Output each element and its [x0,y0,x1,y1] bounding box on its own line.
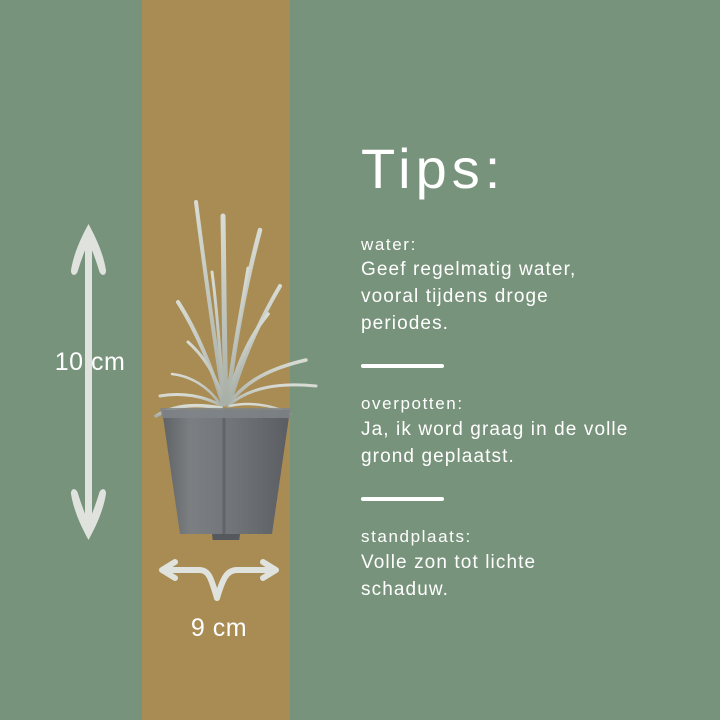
grass-foliage [156,202,316,416]
plant-product-image [120,190,340,540]
tip-item-water: water: Geef regelmatig water, vooral tij… [361,233,691,339]
width-measure-label: 9 cm [154,616,284,641]
section-divider-2 [361,497,444,501]
tip-item-standplaats: standplaats: Volle zon tot lichte schadu… [361,525,691,604]
height-measure-arrow [58,222,120,542]
tip-item-overpotten: overpotten: Ja, ik word graag in de voll… [361,392,691,471]
tips-panel: Tips: water: Geef regelmatig water, voor… [361,140,691,604]
section-divider-1 [361,364,444,368]
poster-canvas: 10 cm 9 cm Tips: water: Geef regelmatig … [0,0,720,720]
tip-body-overpotten: Ja, ik word graag in de volle grond gepl… [361,417,691,471]
tip-label-water: water: [361,233,691,258]
tip-body-water: Geef regelmatig water, vooral tijdens dr… [361,257,691,338]
tips-heading: Tips: [361,140,691,199]
tip-label-standplaats: standplaats: [361,525,691,550]
tip-label-overpotten: overpotten: [361,392,691,417]
width-measure-arrow [155,556,283,604]
tip-body-standplaats: Volle zon tot lichte schaduw. [361,550,691,604]
height-measure-label: 10 cm [38,350,142,375]
nursery-pot [162,410,290,534]
